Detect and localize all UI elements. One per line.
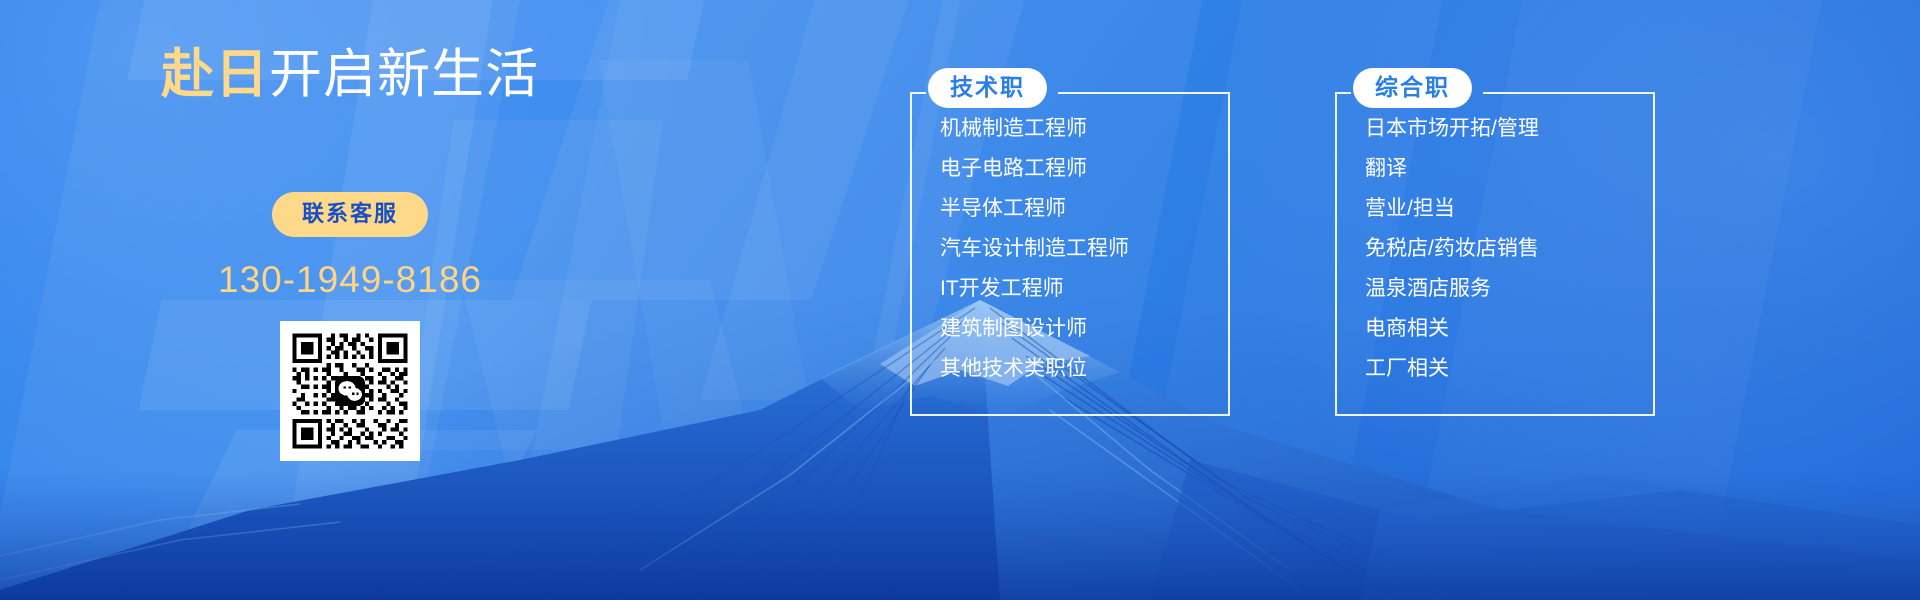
list-item[interactable]: 工厂相关 <box>1365 358 1653 379</box>
list-item[interactable]: 机械制造工程师 <box>940 118 1228 139</box>
job-column-technical: 技术职 机械制造工程师 电子电路工程师 半导体工程师 汽车设计制造工程师 IT开… <box>910 92 1230 416</box>
list-item[interactable]: 电子电路工程师 <box>940 158 1228 179</box>
job-frame-general: 日本市场开拓/管理 翻译 营业/担当 免税店/药妆店销售 温泉酒店服务 电商相关… <box>1335 92 1655 416</box>
recruitment-banner: 赴日开启新生活 联系客服 130-1949-8186 <box>0 0 1920 600</box>
badge-technical: 技术职 <box>928 68 1047 108</box>
list-item[interactable]: 免税店/药妆店销售 <box>1365 238 1653 259</box>
job-list-technical: 机械制造工程师 电子电路工程师 半导体工程师 汽车设计制造工程师 IT开发工程师… <box>940 118 1228 379</box>
list-item[interactable]: 温泉酒店服务 <box>1365 278 1653 299</box>
list-item[interactable]: 翻译 <box>1365 158 1653 179</box>
list-item[interactable]: 营业/担当 <box>1365 198 1653 219</box>
list-item[interactable]: 其他技术类职位 <box>940 358 1228 379</box>
list-item[interactable]: 汽车设计制造工程师 <box>940 238 1228 259</box>
list-item[interactable]: 半导体工程师 <box>940 198 1228 219</box>
list-item[interactable]: 电商相关 <box>1365 318 1653 339</box>
list-item[interactable]: 建筑制图设计师 <box>940 318 1228 339</box>
list-item[interactable]: IT开发工程师 <box>940 278 1228 299</box>
badge-general: 综合职 <box>1353 68 1472 108</box>
job-list-general: 日本市场开拓/管理 翻译 营业/担当 免税店/药妆店销售 温泉酒店服务 电商相关… <box>1365 118 1653 379</box>
job-categories: 技术职 机械制造工程师 电子电路工程师 半导体工程师 汽车设计制造工程师 IT开… <box>0 0 1920 600</box>
job-column-general: 综合职 日本市场开拓/管理 翻译 营业/担当 免税店/药妆店销售 温泉酒店服务 … <box>1335 92 1655 416</box>
list-item[interactable]: 日本市场开拓/管理 <box>1365 118 1653 139</box>
job-frame-technical: 机械制造工程师 电子电路工程师 半导体工程师 汽车设计制造工程师 IT开发工程师… <box>910 92 1230 416</box>
